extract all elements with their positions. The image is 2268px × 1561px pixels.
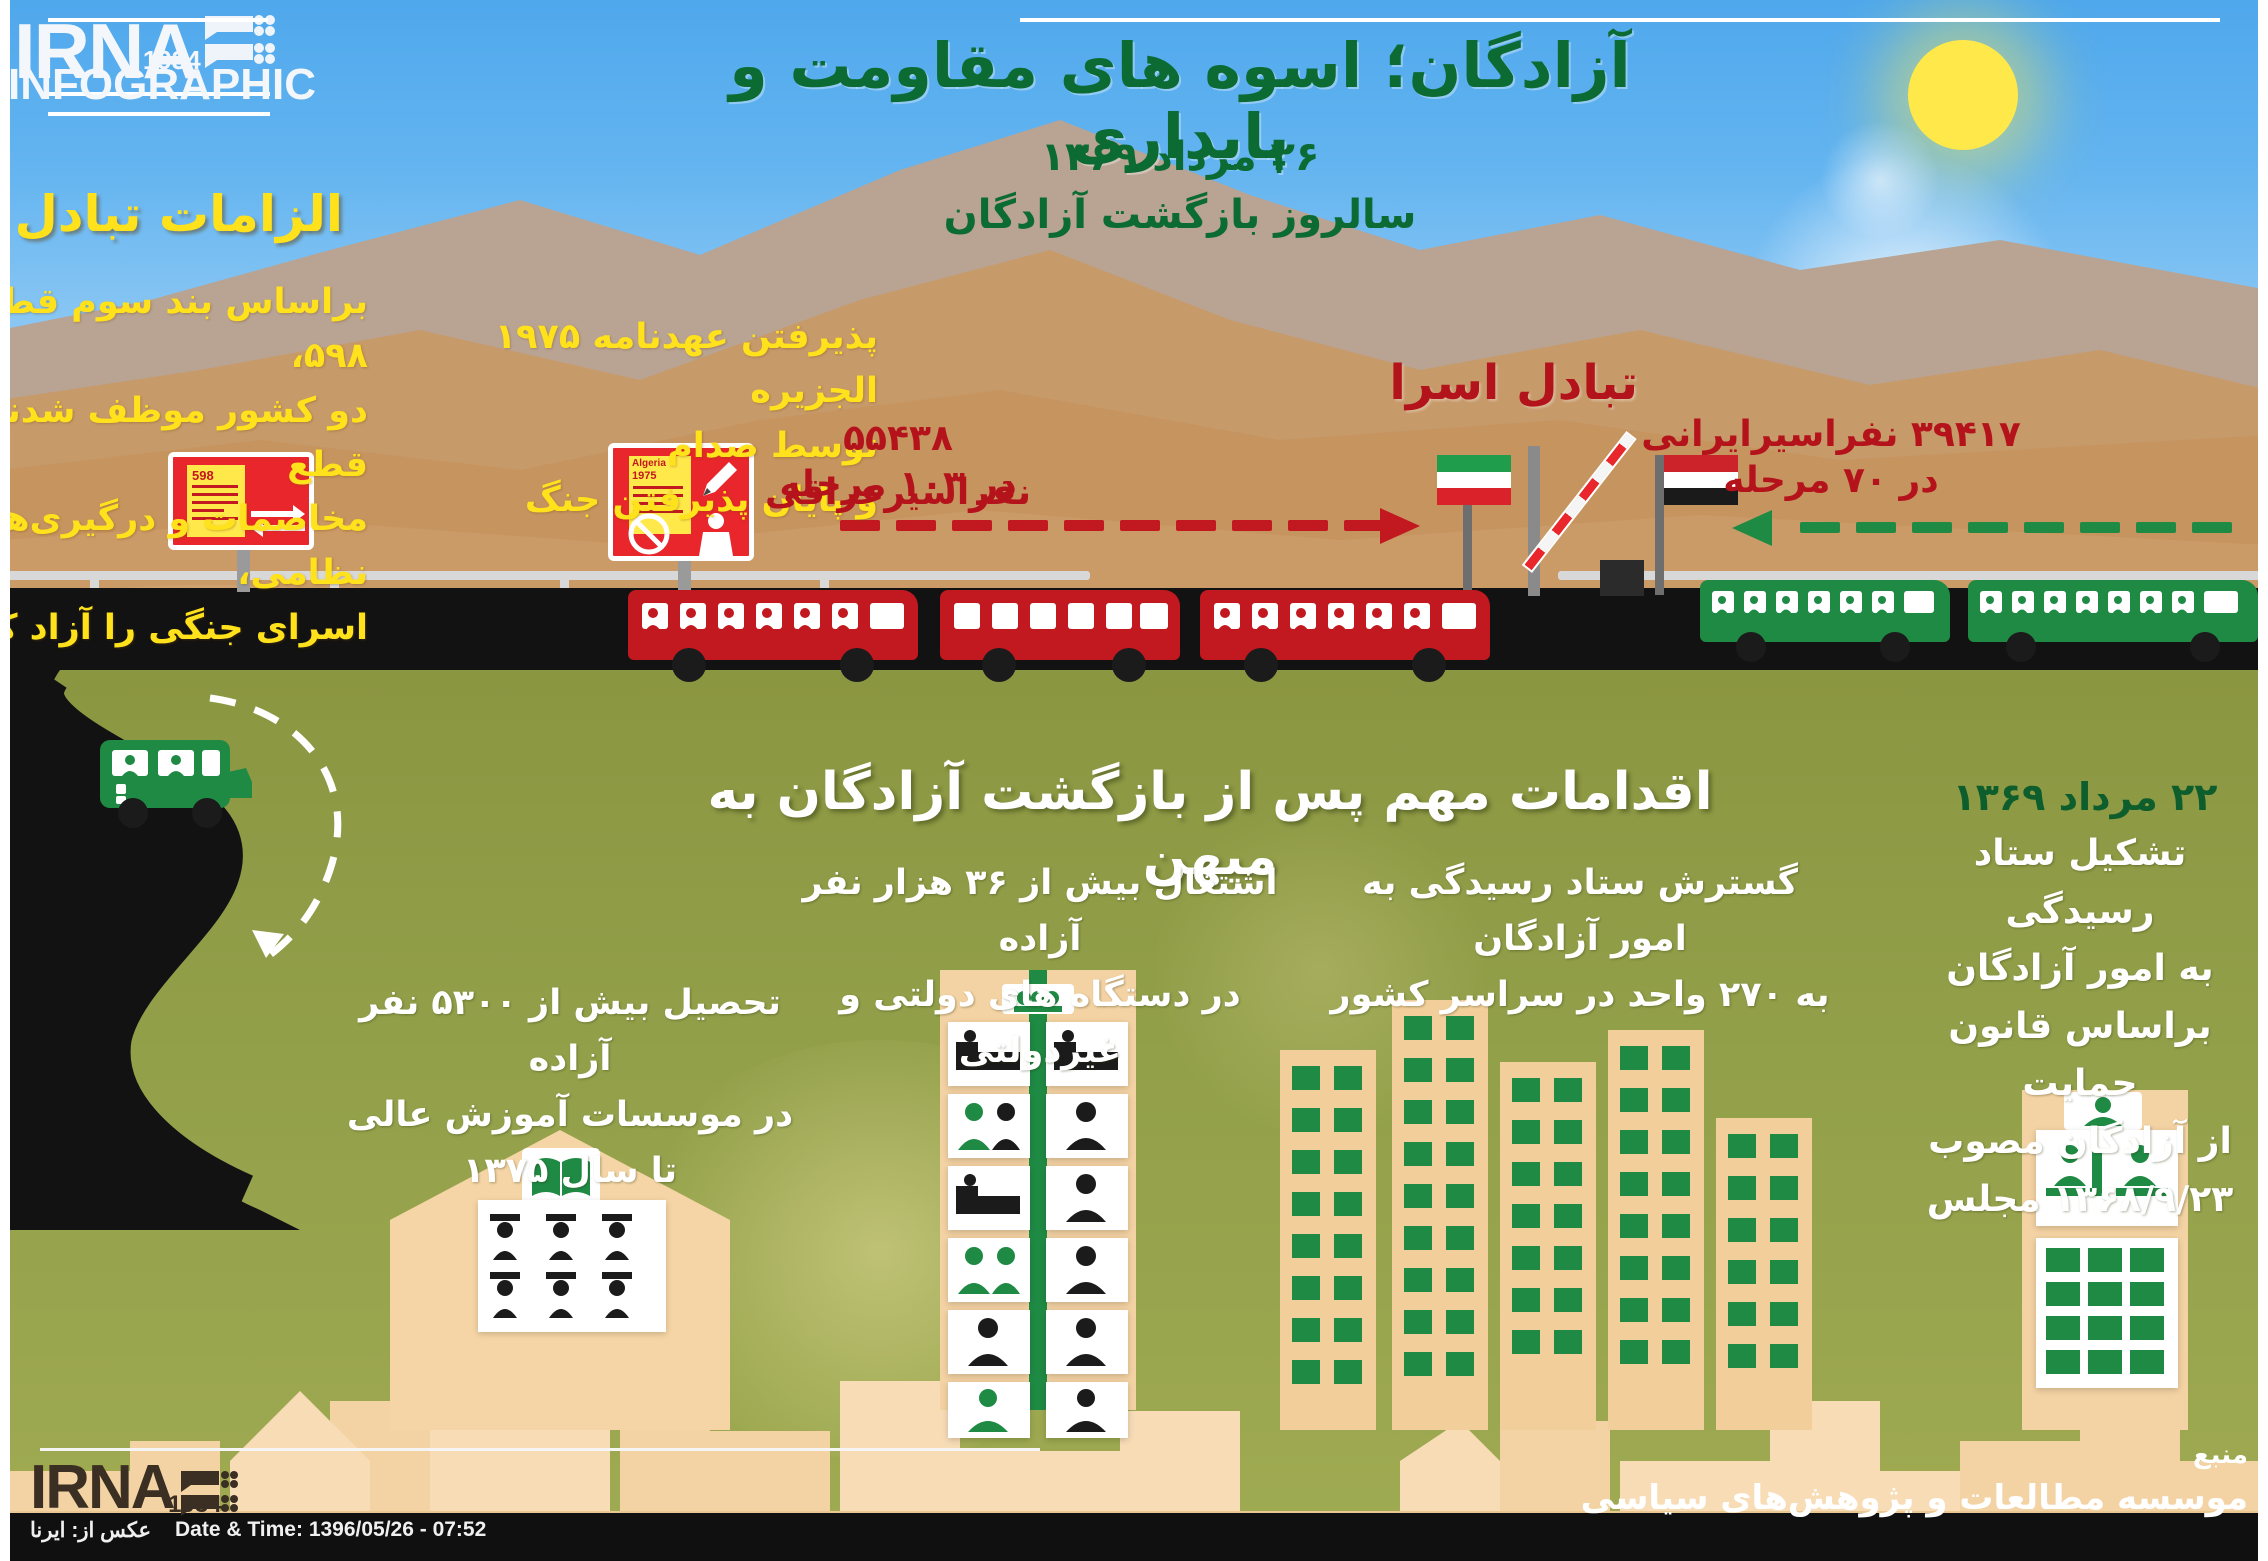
footer-credit: عکس از: ایرنا [30, 1518, 151, 1543]
route-dashed-arrow [180, 690, 380, 980]
person-icon [1050, 1314, 1124, 1370]
iran-flag [1437, 455, 1511, 505]
person-green-icon [952, 1098, 1026, 1154]
sign-post-algeria [678, 558, 691, 592]
bus-passengers-icon [112, 752, 196, 776]
bed-icon [952, 1170, 1026, 1226]
worker-cell [948, 1238, 1030, 1302]
bus-red [940, 590, 1180, 660]
iranian-prisoner-stages: در ۷۰ مرحله [1616, 454, 2046, 508]
person-icon [1050, 1170, 1124, 1226]
bus-front-icon [228, 768, 258, 798]
tower-block-short [1716, 1118, 1812, 1430]
bus-red [628, 590, 918, 660]
logo-divider-right [1020, 18, 2220, 22]
bus-wheel [982, 648, 1016, 682]
graduates-grid [478, 1200, 666, 1332]
bus-passengers-icon [1712, 592, 1912, 614]
person-group-icon [952, 1242, 1026, 1298]
bus-passengers-icon [642, 604, 872, 630]
tower-block [1392, 1000, 1488, 1430]
road-railing-right [1558, 571, 2268, 580]
person-icon [952, 1314, 1026, 1370]
worker-cell [1046, 1094, 1128, 1158]
bus-green [1700, 580, 1950, 642]
source-value: موسسه مطالعات و پژوهش‌های سیاسی [1548, 1478, 2248, 1518]
person-icon [1050, 1242, 1124, 1298]
iranian-exchange-arrow [1800, 522, 2240, 533]
bus-wheel [1112, 648, 1146, 682]
worker-cell [948, 1310, 1030, 1374]
bus-passengers-icon [1214, 604, 1444, 630]
bus-wheel [1736, 632, 1766, 662]
worker-cell [948, 1094, 1030, 1158]
office-window-grid [2040, 1242, 2174, 1384]
requirements-heading: الزامات تبادل [14, 185, 343, 243]
worker-cell [948, 1166, 1030, 1230]
hq-expansion-text: گسترش ستاد رسیدگی به امور آزادگان به ۲۷۰… [1320, 855, 1840, 1023]
bus-green [1968, 580, 2258, 642]
worker-cell [1046, 1238, 1128, 1302]
source-label: منبع [2048, 1440, 2248, 1470]
office-grid-card [2036, 1238, 2178, 1388]
graduate-icons [482, 1204, 662, 1328]
bus-wheel [1244, 648, 1278, 682]
tower-block [1500, 1062, 1596, 1430]
kicker-underline [48, 112, 270, 116]
employment-text: اشتغال بیش از ۳۶ هزار نفر آزاده در دستگا… [780, 855, 1300, 1079]
footer-datetime: Date & Time: 1396/05/26 - 07:52 [175, 1518, 486, 1542]
bus-wheel [192, 798, 222, 828]
irna-logo-footer: IRNA 1934 [30, 1452, 239, 1523]
gate-base [1600, 560, 1644, 596]
tower-block [1280, 1050, 1376, 1430]
bus-wheel [2006, 632, 2036, 662]
person-icon [1050, 1386, 1124, 1434]
worker-cell [948, 1382, 1030, 1438]
bus-wheel [2190, 632, 2220, 662]
worker-cell [1046, 1310, 1128, 1374]
irna-wordmark-footer: IRNA [30, 1453, 174, 1522]
education-text: تحصیل بیش از ۵۳۰۰ نفر آزاده در موسسات آم… [330, 975, 810, 1199]
bus-wheel [118, 798, 148, 828]
bus-wheel [672, 648, 706, 682]
tower-block [1608, 1030, 1704, 1430]
iraqi-prisoner-stages: در ۱۰۳ مرحله [708, 458, 1088, 512]
infographic-kicker: INFOGRAPHIC [8, 60, 316, 110]
bus-wheel [1880, 632, 1910, 662]
infographic-canvas: IRNA 1934 INFOGRAPHIC آزادگان؛ اسوه های … [0, 0, 2268, 1561]
footer-divider [40, 1448, 1040, 1451]
worker-cell [1046, 1382, 1128, 1438]
hq-establishment-text: تشکیل ستاد رسیدگی به امور آزادگان براساس… [1905, 825, 2255, 1228]
bus-wheel [840, 648, 874, 682]
header-date-caption: سالروز بازگشت آزادگان [830, 186, 1530, 244]
bus-passengers-icon [1980, 592, 2210, 614]
iraqi-arrow-head [1380, 508, 1420, 544]
bus-wheel [1412, 648, 1446, 682]
requirements-left-text: براساس بند سوم قطع‌نامه ۵۹۸، دو کشور موظ… [0, 275, 368, 655]
hq-establishment-date: ۲۲ مرداد ۱۳۶۹ [1920, 775, 2250, 819]
exchange-heading: تبادل اسرا [1389, 355, 1638, 411]
gate-post [1528, 446, 1540, 596]
irna-year-footer: 1934 [168, 1491, 221, 1519]
header-date: ۲۶ مرداد ۱۳۶۹ [830, 128, 1530, 186]
iraqi-exchange-arrow [840, 520, 1420, 531]
bus-red [1200, 590, 1490, 660]
worker-cell [1046, 1166, 1128, 1230]
person-icon [1050, 1098, 1124, 1154]
logo-divider-top [48, 18, 268, 22]
iranian-arrow-head [1732, 510, 1772, 546]
person-green-icon [952, 1386, 1026, 1434]
